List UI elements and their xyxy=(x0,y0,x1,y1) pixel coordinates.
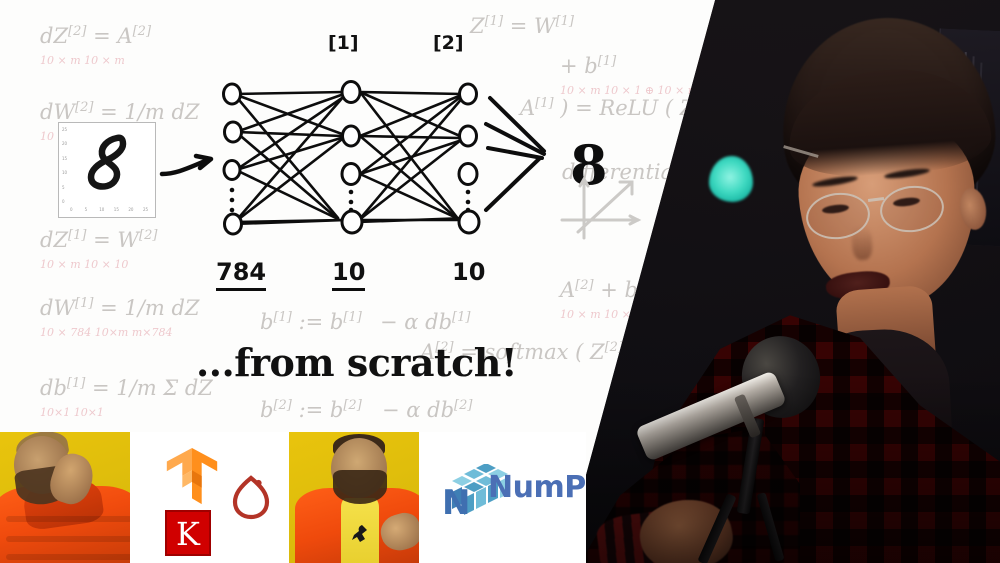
faint-dimension-annotation: 10×1 10×1 xyxy=(40,406,104,419)
faint-equation: b[2] := b[2] xyxy=(260,398,362,422)
video-thumbnail: dZ[2] = A[2]10 × m 10 × mdW[2] = 1/m dZ1… xyxy=(0,0,1000,563)
mnist-x-tick: 10 xyxy=(99,207,104,212)
faint-equation: dW[2] = 1/m dZ xyxy=(40,100,199,124)
faint-dimension-annotation: 10 × m 10 × 10 xyxy=(40,258,128,271)
faint-equation: − α db[2] xyxy=(382,398,472,422)
meme-strip: K xyxy=(0,432,586,563)
drake-rejecting-panel xyxy=(0,432,130,563)
mnist-x-tick: 5 xyxy=(85,207,88,212)
drake-approving-panel xyxy=(289,432,419,563)
pytorch-logo xyxy=(231,470,271,520)
numpy-wordmark: NumPy xyxy=(488,470,586,505)
mnist-input-figure: 05101520250510152025 xyxy=(58,122,156,218)
layer-size-output: 10 xyxy=(452,258,485,286)
mnist-x-tick: 20 xyxy=(128,207,133,212)
neural-network-diagram xyxy=(210,50,510,280)
mnist-y-tick: 5 xyxy=(62,185,65,190)
faint-equation: db[1] = 1/m Σ dZ xyxy=(40,376,213,400)
mnist-plot-area xyxy=(71,128,149,204)
mnist-y-tick: 20 xyxy=(62,141,67,146)
mnist-digit-8 xyxy=(71,128,149,204)
mnist-y-tick: 25 xyxy=(62,127,67,132)
layer-size-hidden: 10 xyxy=(332,258,365,291)
approved-framework-panel: N NumPy xyxy=(422,432,586,563)
layer-size-input: 784 xyxy=(216,258,266,291)
mnist-x-tick: 25 xyxy=(143,207,148,212)
coat-seam xyxy=(6,554,130,560)
jumpman-logo xyxy=(351,524,369,543)
layer-label-1: [1] xyxy=(328,32,359,54)
mnist-y-tick: 15 xyxy=(62,156,67,161)
faint-equation: dZ[2] = A[2] xyxy=(40,24,151,48)
faint-dimension-annotation: 10 × m 10 × m xyxy=(40,54,125,67)
faint-equation: b[1] := b[1] xyxy=(260,310,362,334)
coat-seam xyxy=(6,536,130,542)
mnist-y-tick: 10 xyxy=(62,170,67,175)
mnist-y-tick: 0 xyxy=(62,199,65,204)
keras-logo: K xyxy=(165,510,211,556)
faint-equation: + b[1] xyxy=(560,54,616,78)
svg-text:N: N xyxy=(442,483,470,523)
rejected-frameworks-panel: K xyxy=(133,432,288,563)
faint-equation: − α db[1] xyxy=(380,310,470,334)
faint-equation: dZ[1] = W[2] xyxy=(40,228,157,252)
faint-equation: Z[1] = W[1] xyxy=(470,14,574,38)
layer-label-2: [2] xyxy=(433,32,464,54)
keras-letter: K xyxy=(167,515,209,553)
faint-axes-sketch xyxy=(558,176,644,242)
coat-seam xyxy=(6,516,130,522)
mnist-x-tick: 15 xyxy=(114,207,119,212)
drake-beard xyxy=(333,470,387,504)
tensorflow-logo xyxy=(161,446,223,508)
mnist-x-tick: 0 xyxy=(70,207,73,212)
tagline-text: ...from scratch! xyxy=(196,340,517,385)
faint-dimension-annotation: 10 × 784 10×m m×784 xyxy=(40,326,172,339)
faint-equation: dW[1] = 1/m dZ xyxy=(40,296,199,320)
